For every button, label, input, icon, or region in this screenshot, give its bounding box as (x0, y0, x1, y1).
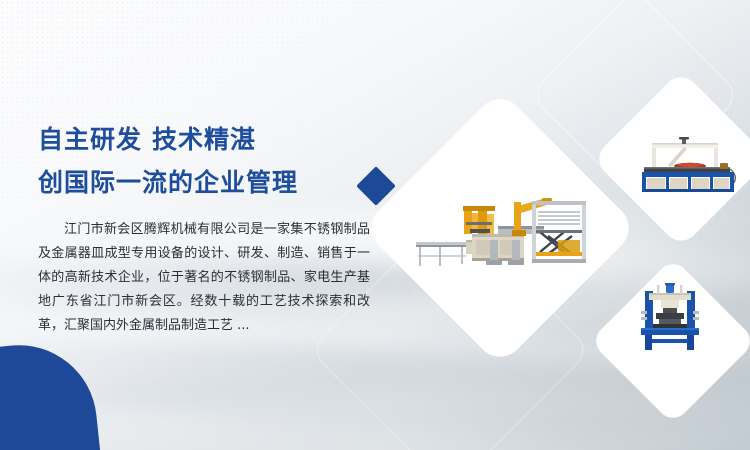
main-machine-photo (414, 196, 594, 274)
company-profile-banner: 自主研发技术精湛 创国际一流的企业管理 江门市新会区腾辉机械有限公司是一家集不锈… (0, 0, 750, 450)
body-paragraph: 江门市新会区腾辉机械有限公司是一家集不锈钢制品及金属器皿成型专用设备的设计、研发… (38, 218, 370, 338)
bottom-machine-photo (639, 283, 701, 351)
bottom-machine-illustration (639, 283, 701, 351)
text-block: 自主研发技术精湛 创国际一流的企业管理 江门市新会区腾辉机械有限公司是一家集不锈… (38, 118, 368, 351)
headline-line-1-part-1: 自主研发 (38, 125, 142, 154)
top-machine-illustration (638, 137, 738, 193)
top-machine-photo (638, 137, 738, 193)
main-machine-illustration (414, 196, 594, 274)
headline-line-1-part-2: 技术精湛 (152, 125, 256, 154)
headline-line-1: 自主研发技术精湛 (38, 118, 368, 161)
blue-corner-accent (0, 337, 103, 450)
headline-line-2: 创国际一流的企业管理 (38, 161, 368, 204)
